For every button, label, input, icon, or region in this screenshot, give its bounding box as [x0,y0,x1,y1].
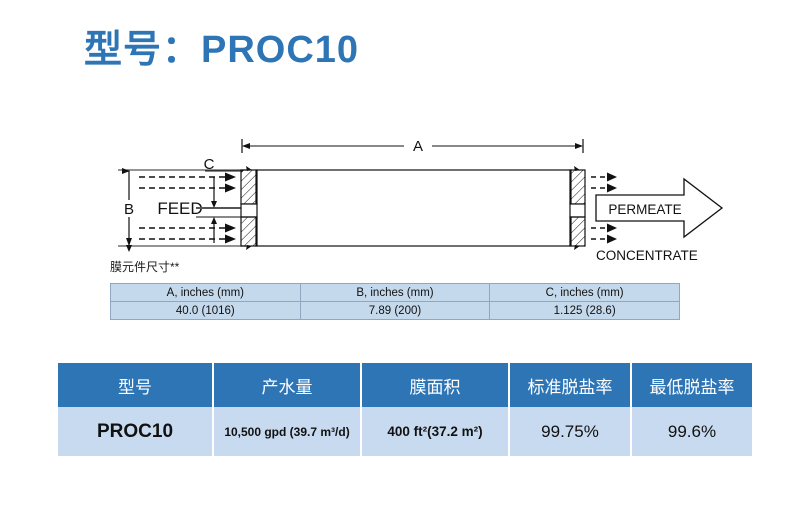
dimensions-value-a: 40.0 (1016) [111,302,301,320]
page-title: 型号：PROC10 [84,18,359,73]
right-end-cap [570,166,585,250]
membrane-element-drawing: A B FEED [0,125,790,265]
spec-value-minimum-rejection: 99.6% [632,407,752,456]
concentrate-label: CONCENTRATE [596,248,698,263]
dimensions-value-row: 40.0 (1016) 7.89 (200) 1.125 (28.6) [111,302,680,320]
dimensions-table: A, inches (mm) B, inches (mm) C, inches … [110,283,680,320]
feed-arrows-upper [139,173,236,193]
dimension-b: B [124,171,134,252]
dimensions-header-a: A, inches (mm) [111,284,301,302]
feed-arrows-lower [139,224,236,244]
drawing-svg: A B FEED [0,125,790,265]
dimension-b-label: B [124,201,134,218]
dimensions-caption: 膜元件尺寸** [110,258,179,275]
spec-value-model: PROC10 [58,407,212,456]
dimension-a: A [242,138,583,155]
spec-value-membrane-area: 400 ft²(37.2 m²) [362,407,508,456]
specification-table: 型号 产水量 膜面积 标准脱盐率 最低脱盐率 PROC10 10,500 gpd… [56,363,754,456]
dimension-c-label: C [204,156,215,173]
left-end-cap [241,166,257,250]
dimensions-value-c: 1.125 (28.6) [490,302,680,320]
spec-header-membrane-area: 膜面积 [362,363,508,407]
dimension-a-label: A [413,138,423,155]
spec-header-model: 型号 [58,363,212,407]
permeate-arrows-lower [591,224,617,244]
dimensions-header-b: B, inches (mm) [300,284,490,302]
spec-value-permeate-flow: 10,500 gpd (39.7 m³/d) [214,407,360,456]
dimension-c: C [196,156,243,243]
spec-header-permeate-flow: 产水量 [214,363,360,407]
permeate-arrows-upper [591,173,617,193]
element-body [256,170,571,246]
spec-header-row: 型号 产水量 膜面积 标准脱盐率 最低脱盐率 [58,363,752,407]
dimensions-header-c: C, inches (mm) [490,284,680,302]
dimensions-value-b: 7.89 (200) [300,302,490,320]
dimensions-header-row: A, inches (mm) B, inches (mm) C, inches … [111,284,680,302]
table-row: PROC10 10,500 gpd (39.7 m³/d) 400 ft²(37… [58,407,752,456]
feed-label: FEED [157,199,202,218]
spec-header-minimum-rejection: 最低脱盐率 [632,363,752,407]
spec-header-nominal-rejection: 标准脱盐率 [510,363,630,407]
spec-value-nominal-rejection: 99.75% [510,407,630,456]
permeate-label: PERMEATE [608,202,681,217]
